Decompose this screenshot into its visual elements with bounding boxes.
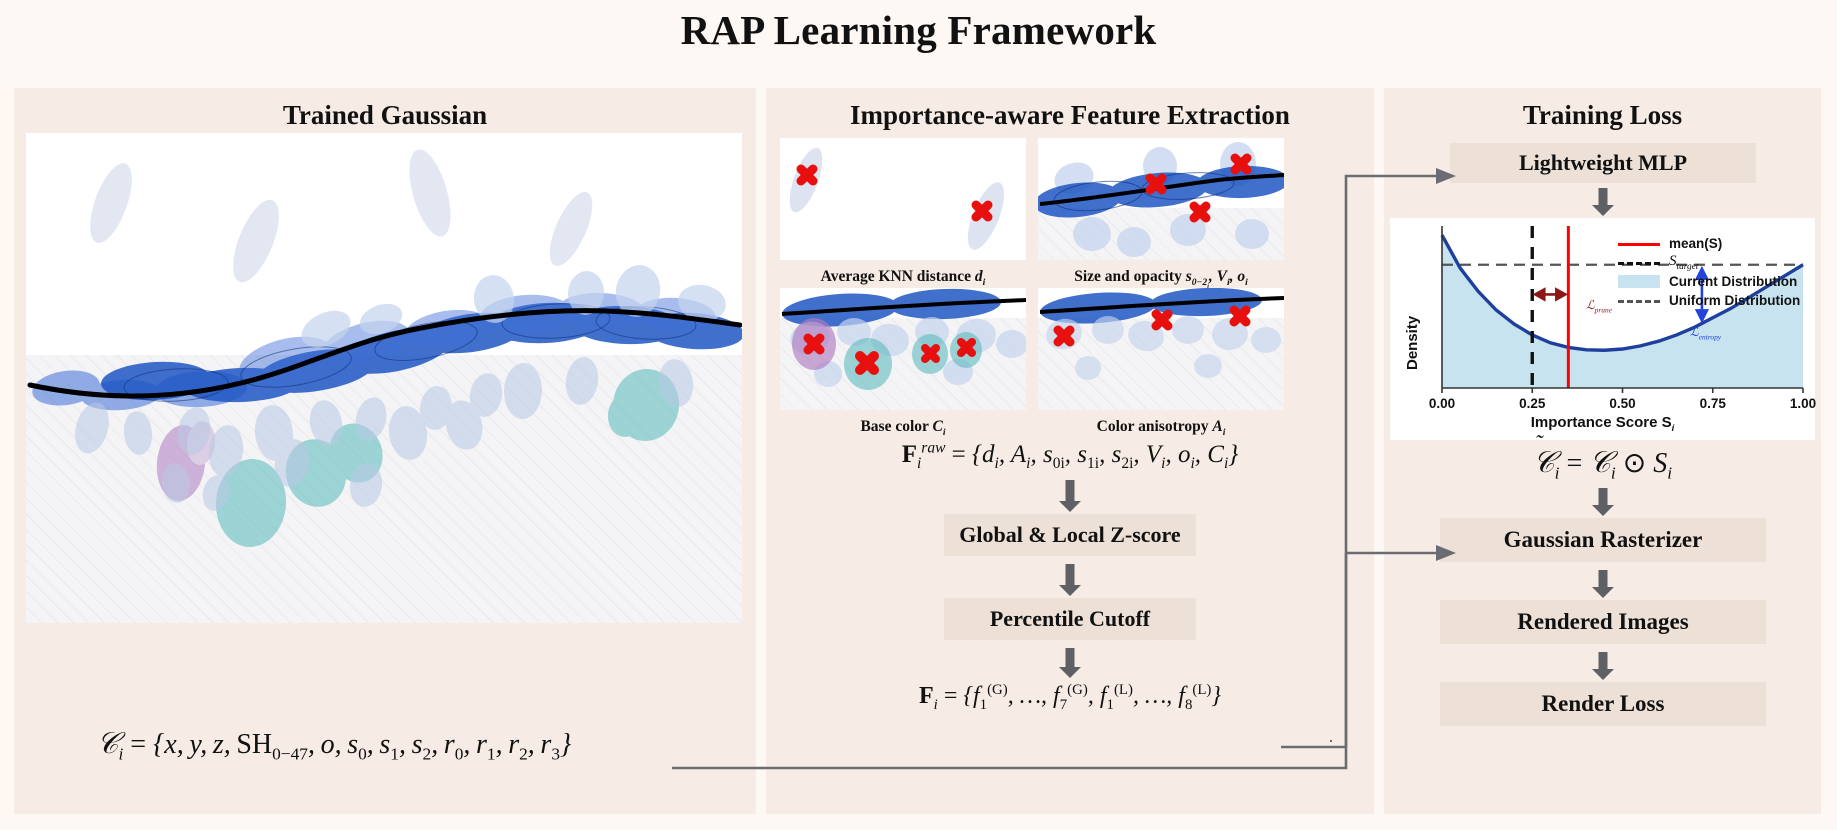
legend-entry-0: mean(S): [1618, 234, 1800, 253]
thumb-caption-knn: Average KNN distance di: [780, 268, 1026, 288]
legend-key-2: [1618, 275, 1660, 288]
raw-feature-formula: Firaw = {di, Ai, s0i, s1i, s2i, Vi, oi, …: [766, 440, 1374, 473]
thumb-caption-basecolor: Base color Ci: [780, 418, 1026, 438]
red-x-marker: [1234, 310, 1246, 322]
red-x-marker: [1235, 158, 1247, 170]
legend-label-3: Uniform Distribution: [1669, 293, 1800, 308]
thumb-caption-size-text: Size and opacity: [1074, 268, 1186, 285]
chart-legend: mean(S)StargetCurrent DistributionUnifor…: [1618, 234, 1800, 310]
prune-loss-arrow: [1535, 289, 1565, 299]
chart-x-tick-0: 0.00: [1429, 396, 1455, 411]
thumb-caption-aniso: Color anisotropy Ai: [1038, 418, 1284, 438]
box-percentile-cutoff[interactable]: Percentile Cutoff: [944, 598, 1196, 640]
panel-title-right: Training Loss: [1384, 100, 1821, 131]
legend-entry-3: Uniform Distribution: [1618, 291, 1800, 310]
panel-title-middle: Importance-aware Feature Extraction: [766, 100, 1374, 131]
final-feature-formula: Fi = {f1(G), …, f7(G), f1(L), …, f8(L)}: [766, 682, 1374, 714]
trained-gaussian-scene: [26, 133, 742, 623]
importance-score-distribution-chart: Density: [1390, 218, 1815, 440]
thumb-knn-svg: [780, 138, 1026, 260]
arrow-to-zscore: [1058, 480, 1082, 512]
legend-label-0: mean(S): [1669, 236, 1722, 251]
thumb-knn-distance: [780, 138, 1026, 260]
arrow-to-percentile: [1058, 564, 1082, 596]
entropy-loss-subscript: entropy: [1699, 332, 1721, 341]
thumb-caption-size: Size and opacity s0−2i, Vi, oi: [1038, 268, 1284, 290]
chart-x-tick-2: 0.50: [1609, 396, 1635, 411]
chart-x-axis-label: Importance Score Si: [1390, 414, 1815, 433]
chart-x-tick-1: 0.25: [1519, 396, 1545, 411]
chart-x-tick-3: 0.75: [1700, 396, 1726, 411]
red-x-marker: [1156, 314, 1168, 326]
arrow-to-rendered-images: [1591, 570, 1615, 598]
arrow-to-rasterizer: [1591, 488, 1615, 516]
thumb-caption-basecolor-text: Base color: [860, 418, 932, 435]
thumb-base-color: [780, 288, 1026, 410]
prune-loss-subscript: prune: [1595, 305, 1612, 314]
legend-label-2: Current Distribution: [1669, 274, 1797, 289]
thumb-caption-knn-text: Average KNN distance: [821, 268, 975, 285]
legend-entry-2: Current Distribution: [1618, 272, 1800, 291]
thumb-size-opacity: [1038, 138, 1284, 260]
thumb-color-anisotropy: [1038, 288, 1284, 410]
box-gaussian-rasterizer[interactable]: Gaussian Rasterizer: [1440, 518, 1766, 562]
red-x-marker: [961, 342, 972, 353]
red-x-marker: [1150, 178, 1162, 190]
gaussian-splats-svg: [26, 133, 742, 623]
red-x-marker: [925, 348, 936, 359]
thumb-aniso-svg: [1038, 288, 1284, 410]
panel-title-left: Trained Gaussian: [14, 100, 756, 131]
thumb-size-svg: [1038, 138, 1284, 260]
arrow-to-final-feature: [1058, 648, 1082, 678]
red-x-marker: [1058, 330, 1070, 342]
arrow-mlp-to-chart: [1591, 188, 1615, 216]
box-global-local-zscore[interactable]: Global & Local Z-score: [944, 514, 1196, 556]
arrow-to-render-loss: [1591, 652, 1615, 680]
red-x-marker: [1194, 206, 1206, 218]
box-rendered-images[interactable]: Rendered Images: [1440, 600, 1766, 644]
thumb-caption-aniso-text: Color anisotropy: [1097, 418, 1213, 435]
entropy-loss-symbol: ℒ: [1690, 325, 1699, 339]
legend-entry-1: Starget: [1618, 253, 1800, 272]
red-x-marker: [860, 356, 874, 370]
chart-x-axis-label-text: Importance Score S: [1531, 414, 1672, 431]
red-x-marker: [808, 338, 820, 350]
box-lightweight-mlp[interactable]: Lightweight MLP: [1450, 143, 1756, 183]
prune-loss-symbol: ℒ: [1586, 298, 1595, 312]
red-x-marker: [976, 205, 988, 217]
legend-key-3: [1618, 294, 1660, 308]
entropy-loss-annotation: ℒentropy: [1690, 325, 1721, 341]
panel-training-loss: Training Loss Lightweight MLP Density: [1384, 88, 1821, 814]
chart-x-tick-4: 1.00: [1790, 396, 1816, 411]
thumb-basecolor-svg: [780, 288, 1026, 410]
page-title: RAP Learning Framework: [0, 6, 1837, 54]
legend-label-1: Starget: [1669, 253, 1698, 272]
legend-key-0: [1618, 237, 1660, 251]
left-gaussian-formula: 𝒞i = {x, y, z, SH0−47, o, s0, s1, s2, r0…: [14, 728, 654, 765]
panel-trained-gaussian: Trained Gaussian: [14, 88, 756, 814]
chart-x-axis-label-sub: i: [1672, 423, 1675, 433]
red-x-marker: [801, 169, 813, 181]
legend-key-1: [1618, 256, 1660, 270]
figure-root: RAP Learning Framework Trained Gaussian: [0, 0, 1837, 830]
prune-loss-annotation: ℒprune: [1586, 298, 1612, 314]
gaussian-modulation-formula: ˜ 𝒞i = 𝒞i ⊙ Si: [1384, 446, 1821, 484]
panel-feature-extraction: Importance-aware Feature Extraction Aver…: [766, 88, 1374, 814]
box-render-loss[interactable]: Render Loss: [1440, 682, 1766, 726]
